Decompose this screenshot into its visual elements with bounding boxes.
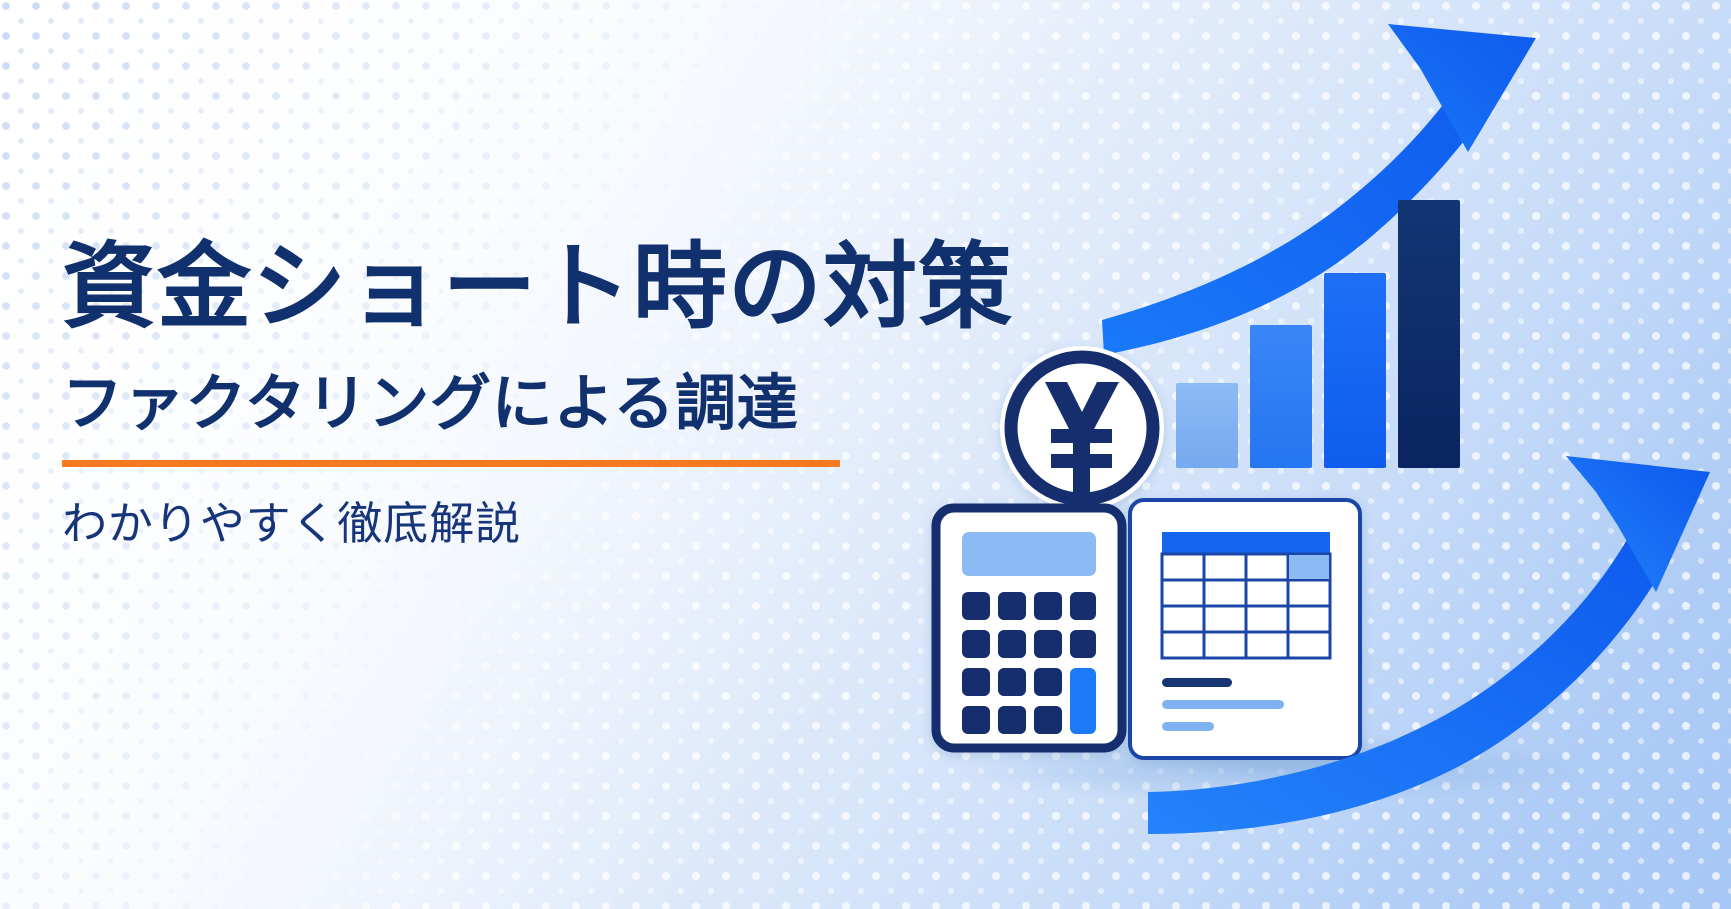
spreadsheet-document-icon (1130, 500, 1360, 758)
hero-banner: 資金ショート時の対策 ファクタリングによる調達 わかりやすく徹底解説 (0, 0, 1731, 909)
table-header-row (1162, 532, 1330, 554)
table-highlight-cell (1289, 555, 1329, 579)
orange-divider (62, 460, 840, 467)
calculator-icon (936, 508, 1122, 748)
headline-main: 資金ショート時の対策 (62, 236, 962, 341)
bar-1 (1176, 383, 1238, 468)
headline-sub: ファクタリングによる調達 (62, 371, 962, 438)
doc-text-line-2 (1162, 700, 1284, 709)
finance-illustration (880, 0, 1731, 909)
headline-block: 資金ショート時の対策 ファクタリングによる調達 わかりやすく徹底解説 (62, 236, 962, 551)
growth-arrow-large-icon (1102, 24, 1536, 355)
doc-text-line-1 (1162, 678, 1232, 687)
doc-text-line-3 (1162, 722, 1214, 731)
bar-3 (1324, 273, 1386, 468)
yen-coin-icon (1000, 346, 1164, 510)
bar-2 (1250, 325, 1312, 468)
calculator-equals-key (1070, 668, 1096, 734)
calculator-display (962, 532, 1096, 576)
headline-tagline: わかりやすく徹底解説 (62, 499, 962, 551)
bar-4 (1398, 200, 1460, 468)
